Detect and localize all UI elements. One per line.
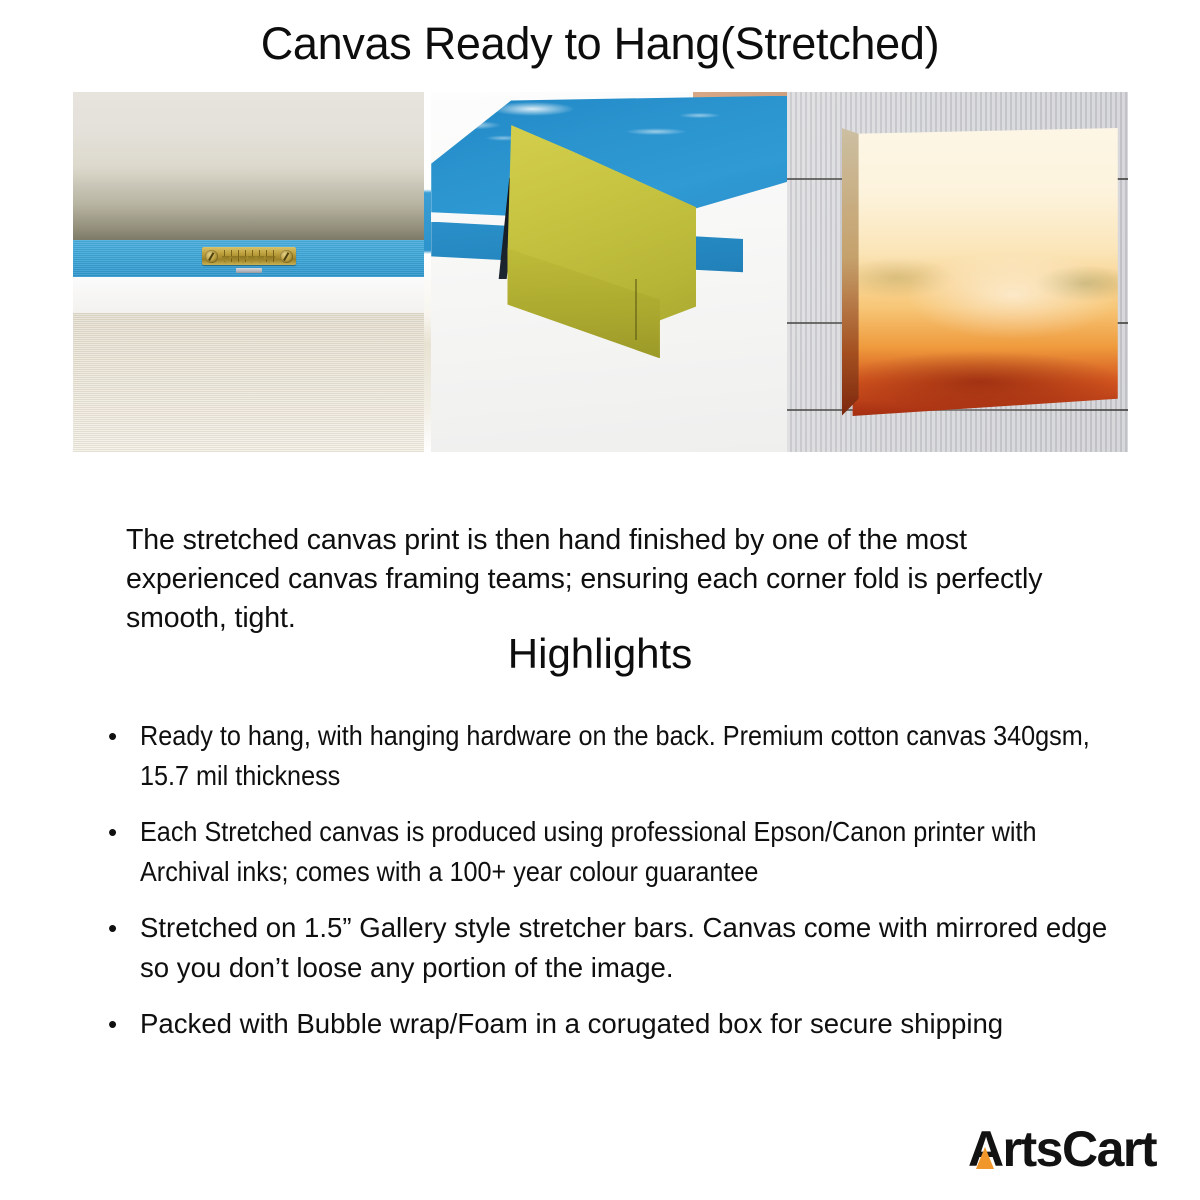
gallery-image-canvas-hung-on-wall[interactable]: [787, 92, 1128, 452]
orange-triangle-icon: [976, 1147, 994, 1169]
gallery-image-canvas-back-hanging-hardware[interactable]: [73, 92, 424, 452]
intro-paragraph: The stretched canvas print is then hand …: [126, 521, 1086, 638]
page-title: Canvas Ready to Hang(Stretched): [0, 18, 1200, 70]
photo1-wall-background: [73, 92, 424, 240]
highlights-heading: Highlights: [0, 630, 1200, 678]
bullet-marker-icon: •: [108, 908, 117, 948]
product-image-gallery: [73, 92, 1128, 452]
hanger-screw-right: [280, 250, 293, 263]
photo1-raw-canvas-back: [73, 313, 424, 452]
bullet-marker-icon: •: [108, 812, 117, 852]
list-item-text: Ready to hang, with hanging hardware on …: [140, 716, 1113, 796]
list-item-text: Stretched on 1.5” Gallery style stretche…: [140, 908, 1114, 988]
photo2-fold-seam: [635, 279, 637, 340]
logo-wordmark-rest: rtsCart: [1003, 1124, 1156, 1174]
photo1-white-stretcher-bar: [73, 277, 424, 313]
hanger-screw-left: [205, 250, 218, 263]
sawtooth-hanger-icon: [202, 245, 296, 269]
photo3-sunset-canvas-print: [842, 128, 1118, 416]
photo3-canvas-side-edge: [842, 128, 859, 416]
list-item-text: Each Stretched canvas is produced using …: [140, 812, 1113, 892]
list-item: • Ready to hang, with hanging hardware o…: [104, 716, 1114, 796]
bullet-marker-icon: •: [108, 1004, 117, 1044]
highlights-list: • Ready to hang, with hanging hardware o…: [104, 716, 1114, 1060]
photo2-left-edge-strip: [424, 92, 431, 452]
list-item-text: Packed with Bubble wrap/Foam in a coruga…: [140, 1004, 1114, 1044]
list-item: • Stretched on 1.5” Gallery style stretc…: [104, 908, 1114, 988]
gallery-image-canvas-corner-fold[interactable]: [424, 92, 787, 452]
list-item: • Each Stretched canvas is produced usin…: [104, 812, 1114, 892]
artscart-logo[interactable]: A rtsCart: [968, 1124, 1156, 1174]
logo-letter-a: A: [968, 1124, 1003, 1174]
hanger-clip: [236, 268, 262, 273]
list-item: • Packed with Bubble wrap/Foam in a coru…: [104, 1004, 1114, 1044]
bullet-marker-icon: •: [108, 716, 117, 756]
